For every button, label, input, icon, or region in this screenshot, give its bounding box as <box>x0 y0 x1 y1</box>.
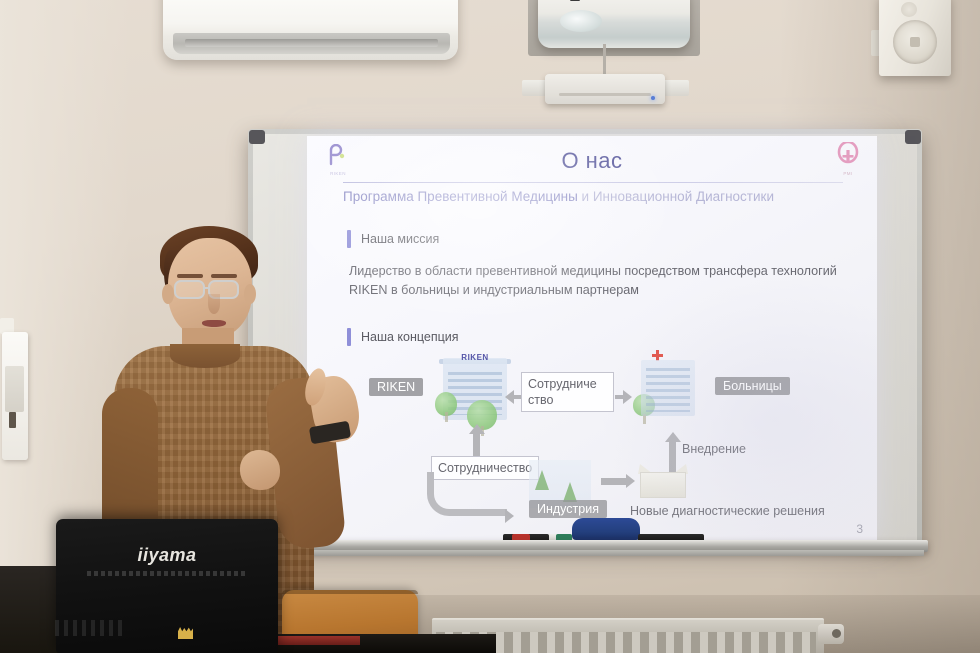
product-box-icon <box>640 464 686 498</box>
slide-subtitle: Программа Превентивной Медицины и Иннова… <box>343 189 853 204</box>
whiteboard-eraser[interactable] <box>572 518 640 540</box>
projected-slide: RIKEN PMI О нас Программа Превентивной М… <box>307 136 877 540</box>
box-cooperation-top-line2: ство <box>528 392 607 408</box>
hospital-building-icon <box>641 360 695 416</box>
box-cooperation-top: Сотрудниче ство <box>521 372 614 412</box>
monitor-model-text <box>87 571 247 576</box>
label-implementation: Внедрение <box>682 442 746 456</box>
presenter-nose <box>208 294 220 314</box>
conifer-tree-icon <box>563 482 577 502</box>
projector-mount-bracket <box>545 74 665 104</box>
box-cooperation-top-line1: Сотрудниче <box>528 376 607 392</box>
section-heading-concept: Наша концепция <box>347 330 459 344</box>
monitor-logo-icon <box>178 627 193 639</box>
radiator-valve-icon[interactable] <box>818 624 844 644</box>
node-tag-industry: Индустрия <box>529 500 607 518</box>
arrow-industry-to-box-shaft <box>601 478 627 485</box>
projector-mount-wing-right <box>663 80 689 96</box>
section-heading-mission: Наша миссия <box>347 232 439 246</box>
slide-title-divider <box>343 182 843 183</box>
arrow-industry-to-box-head <box>626 474 635 488</box>
presenter-ear-right <box>244 284 256 304</box>
glasses-lens-left <box>174 280 205 299</box>
whiteboard-corner-top-right <box>905 130 921 144</box>
projector-icon: EPSON <box>538 0 690 48</box>
desk-shadow-left <box>0 566 60 653</box>
presenter-eyebrow-left <box>177 274 203 278</box>
node-tag-riken: RIKEN <box>369 378 423 396</box>
riken-building-sign: RIKEN <box>447 353 503 362</box>
chair-backrest-edge <box>282 590 418 594</box>
monitor-vent-grille <box>55 620 123 636</box>
tree-trunk <box>445 412 448 422</box>
air-conditioner-vent <box>173 33 450 54</box>
presenter-mouth <box>202 320 226 327</box>
presenter-ear-left <box>162 284 174 304</box>
whiteboard-corner-top-left <box>249 130 265 144</box>
speaker-cone-icon <box>893 20 937 64</box>
mission-body-text: Лидерство в области превентивной медицин… <box>349 262 841 300</box>
lecture-room-scene: EPSON RIKEN <box>0 0 980 653</box>
projector-warning-icon <box>570 0 580 1</box>
arrow-up-to-riken-head <box>469 424 485 434</box>
node-tag-hospitals: Больницы <box>715 377 790 395</box>
presenter-eyebrow-right <box>211 274 237 278</box>
conifer-tree-icon <box>535 470 549 490</box>
wall-panel-switch-icon[interactable] <box>9 412 16 428</box>
product-box-body <box>640 472 686 498</box>
arrow-up-implementation-head <box>665 432 681 442</box>
arrow-right-to-hospitals <box>623 390 632 404</box>
projector-status-led-icon <box>651 96 655 100</box>
slide-subtitle-faded: и Инновационной Диагностики <box>578 189 774 204</box>
speaker-tweeter-icon <box>901 2 917 17</box>
curved-arrow-head <box>505 509 514 523</box>
arrow-up-to-riken-shaft <box>473 434 480 456</box>
slide-title: О нас <box>307 148 877 174</box>
slide-subtitle-strong: Программа Превентивной Медицины <box>343 189 578 204</box>
wall-panel-slot <box>5 366 24 412</box>
monitor-brand-label: iiyama <box>137 545 196 566</box>
presenter-hand-lower <box>240 450 280 490</box>
projector-lens-icon <box>560 10 602 32</box>
glasses-bridge <box>205 287 210 289</box>
slide-page-number: 3 <box>856 522 863 536</box>
air-conditioner-icon <box>163 0 458 60</box>
presenter-collar <box>170 344 240 368</box>
wall-control-panel-icon[interactable] <box>2 332 28 460</box>
mission-line-1: Лидерство в области превентивной медицин… <box>349 264 768 278</box>
curved-arrow-to-industry <box>427 472 507 516</box>
wall-speaker-icon <box>879 0 951 76</box>
label-new-solutions: Новые диагностические решения <box>630 504 825 518</box>
concept-diagram: RIKEN RIKEN Сотрудниче ство Больницы <box>307 352 877 540</box>
